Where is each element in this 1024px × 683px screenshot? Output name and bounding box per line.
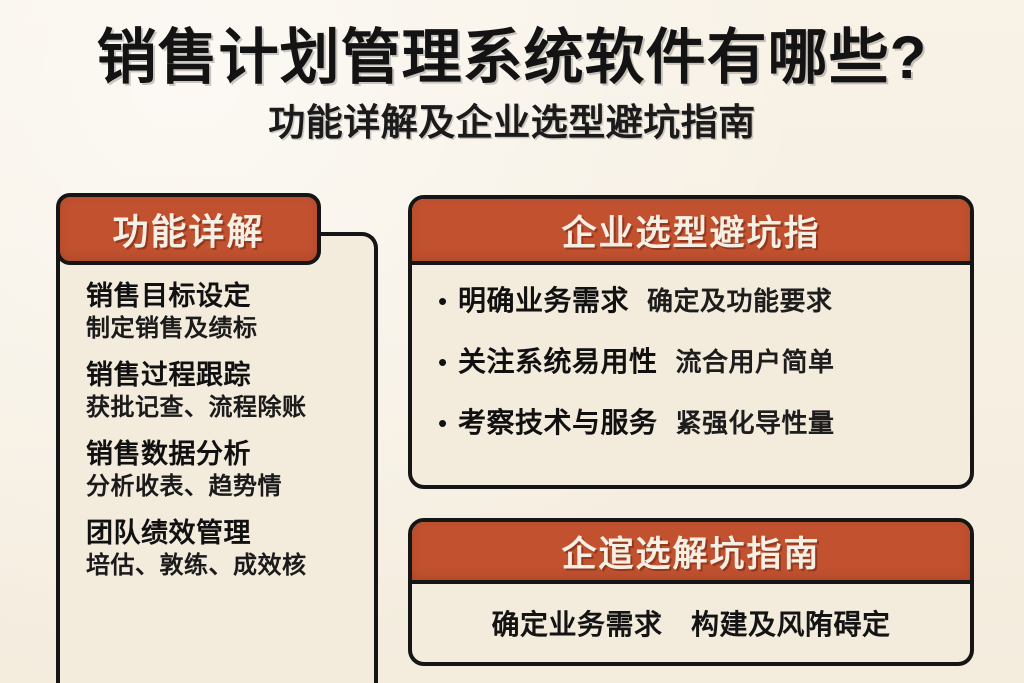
selection-guide-bullet-list: • 明确业务需求 确定及功能要求 • 关注系统易用性 流合用户简单 • 考察技术… bbox=[412, 265, 970, 441]
list-item: • 考察技术与服务 紧强化导性量 bbox=[438, 405, 952, 441]
avoidance-guide-card-header: 企逭选解坑指南 bbox=[412, 522, 970, 584]
feature-description: 制定销售及绩标 bbox=[86, 313, 364, 345]
bullet-title: 考察技术与服务 bbox=[458, 405, 658, 441]
feature-title: 团队绩效管理 bbox=[86, 516, 364, 550]
list-item: 销售数据分析 分析收表、趋势情 bbox=[86, 437, 364, 503]
features-card: 功能详解 销售目标设定 制定销售及绩标 销售过程跟踪 获批记查、流程除账 销售数… bbox=[56, 193, 378, 683]
feature-title: 销售目标设定 bbox=[86, 279, 364, 313]
page-subtitle: 功能详解及企业选型避坑指南 bbox=[0, 100, 1024, 146]
list-item: • 关注系统易用性 流合用户简单 bbox=[438, 344, 952, 380]
page-title: 销售计划管理系统软件有哪些? bbox=[0, 22, 1024, 94]
selection-guide-card-header: 企业选型避坑指 bbox=[412, 199, 970, 265]
feature-description: 分析收表、趋势情 bbox=[86, 471, 364, 503]
bullet-note: 紧强化导性量 bbox=[676, 405, 835, 441]
avoidance-guide-body-text: 确定业务需求 构建及风陏碍定 bbox=[491, 603, 890, 643]
feature-description: 培估、敦练、成效核 bbox=[86, 550, 364, 582]
feature-description: 获批记查、流程除账 bbox=[86, 392, 364, 424]
features-card-tab-label: 功能详解 bbox=[112, 203, 264, 255]
list-item: • 明确业务需求 确定及功能要求 bbox=[438, 283, 952, 319]
selection-guide-card-header-label: 企业选型避坑指 bbox=[561, 205, 820, 256]
feature-title: 销售过程跟踪 bbox=[86, 358, 364, 392]
bullet-note: 确定及功能要求 bbox=[647, 283, 833, 319]
features-list: 销售目标设定 制定销售及绩标 销售过程跟踪 获批记查、流程除账 销售数据分析 分… bbox=[56, 279, 378, 595]
features-card-tab: 功能详解 bbox=[56, 193, 321, 265]
bullet-dot-icon: • bbox=[438, 406, 458, 440]
list-item: 销售过程跟踪 获批记查、流程除账 bbox=[86, 358, 364, 424]
avoidance-guide-card-header-label: 企逭选解坑指南 bbox=[561, 526, 820, 577]
list-item: 团队绩效管理 培估、敦练、成效核 bbox=[86, 516, 364, 582]
list-item: 销售目标设定 制定销售及绩标 bbox=[86, 279, 364, 345]
avoidance-guide-card-body: 确定业务需求 构建及风陏碍定 bbox=[412, 584, 970, 662]
feature-title: 销售数据分析 bbox=[86, 437, 364, 471]
bullet-title: 关注系统易用性 bbox=[458, 344, 658, 380]
poster-header: 销售计划管理系统软件有哪些? 功能详解及企业选型避坑指南 bbox=[0, 0, 1024, 182]
avoidance-guide-card: 企逭选解坑指南 确定业务需求 构建及风陏碍定 bbox=[408, 518, 974, 666]
bullet-title: 明确业务需求 bbox=[458, 283, 629, 319]
poster-canvas: 销售计划管理系统软件有哪些? 功能详解及企业选型避坑指南 功能详解 销售目标设定… bbox=[0, 0, 1024, 683]
bullet-dot-icon: • bbox=[438, 345, 458, 379]
bullet-note: 流合用户简单 bbox=[676, 344, 835, 380]
selection-guide-card: 企业选型避坑指 • 明确业务需求 确定及功能要求 • 关注系统易用性 流合用户简… bbox=[408, 195, 974, 489]
bullet-dot-icon: • bbox=[438, 284, 458, 318]
